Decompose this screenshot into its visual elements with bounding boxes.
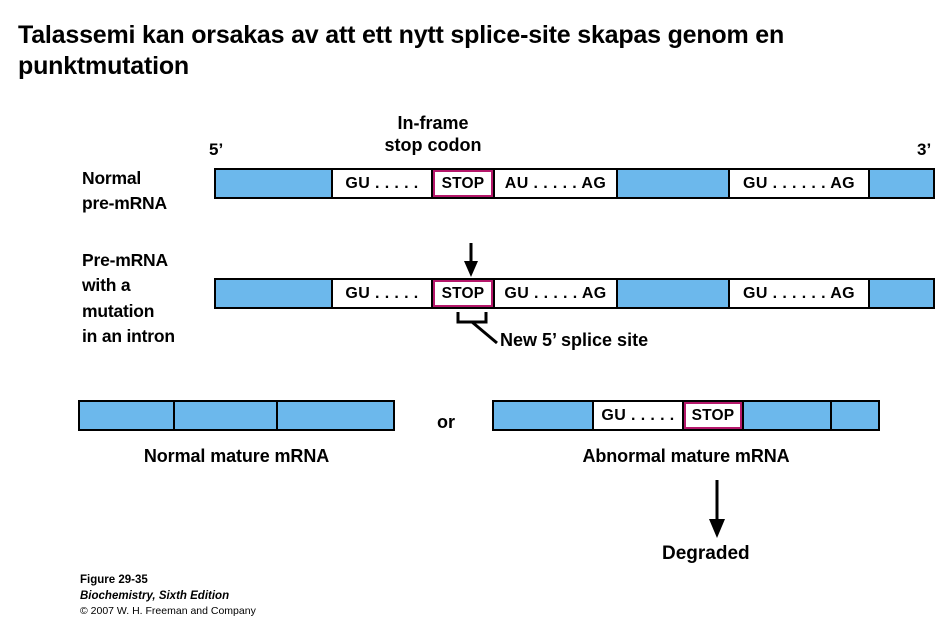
segment-intron: GU . . . . . AG <box>493 280 616 307</box>
figure-credits: Figure 29-35 Biochemistry, Sixth Edition… <box>80 573 256 619</box>
row-label-normal-pre-mrna: Normal pre-mRNA <box>82 166 167 217</box>
segment-exon <box>216 170 331 197</box>
in-frame-stop-codon-line-1: In-frame <box>363 113 503 135</box>
three-prime-label: 3’ <box>917 140 931 160</box>
in-frame-stop-codon-line-2: stop codon <box>363 135 503 157</box>
row-label-line-1: Normal <box>82 166 167 191</box>
new-splice-site-callout: New 5’ splice site <box>500 330 760 352</box>
mrna-bar-mutant-pre-mrna: GU . . . . . STOP GU . . . . . AG GU . .… <box>214 278 935 309</box>
figure-canvas: Talassemi kan orsakas av att ett nytt sp… <box>0 0 948 638</box>
segment-intron: GU . . . . . . AG <box>728 280 868 307</box>
row-label-line-4: in an intron <box>82 324 175 349</box>
mrna-bar-normal-mature-mrna <box>78 400 395 431</box>
row-label-line-2: pre-mRNA <box>82 191 167 216</box>
segment-exon <box>830 402 878 429</box>
segment-exon <box>616 280 728 307</box>
in-frame-stop-codon-callout: In-frame stop codon <box>363 113 503 156</box>
degraded-label: Degraded <box>662 543 750 565</box>
caption-abnormal-mature-mrna: Abnormal mature mRNA <box>492 446 880 467</box>
book-title: Biochemistry, Sixth Edition <box>80 589 256 605</box>
segment-exon <box>216 280 331 307</box>
row-label-line-2: with a <box>82 273 175 298</box>
segment-intron: GU . . . . . <box>331 170 431 197</box>
or-connector-label: or <box>437 412 455 433</box>
segment-stop-codon: STOP <box>431 170 493 197</box>
segment-exon <box>276 402 393 429</box>
row-label-mutant-pre-mrna: Pre-mRNA with a mutation in an intron <box>82 248 175 350</box>
mrna-bar-abnormal-mature-mrna: GU . . . . . STOP <box>492 400 880 431</box>
page-title: Talassemi kan orsakas av att ett nytt sp… <box>18 20 918 83</box>
segment-exon <box>173 402 276 429</box>
stop-codon-label: STOP <box>435 172 491 195</box>
new-splice-site-bracket-icon <box>458 312 497 343</box>
degradation-arrow-icon <box>709 480 725 538</box>
caption-normal-mature-mrna: Normal mature mRNA <box>78 446 395 467</box>
segment-exon <box>80 402 173 429</box>
segment-stop-codon: STOP <box>431 280 493 307</box>
segment-intron: AU . . . . . AG <box>493 170 616 197</box>
segment-exon <box>742 402 830 429</box>
copyright-notice: © 2007 W. H. Freeman and Company <box>80 604 256 619</box>
stop-codon-label: STOP <box>686 404 740 427</box>
segment-stop-codon: STOP <box>682 402 742 429</box>
five-prime-label: 5’ <box>209 140 223 160</box>
segment-intron: GU . . . . . <box>331 280 431 307</box>
segment-exon <box>616 170 728 197</box>
segment-exon <box>868 170 933 197</box>
row-label-line-1: Pre-mRNA <box>82 248 175 273</box>
segment-exon <box>494 402 592 429</box>
stop-codon-label: STOP <box>435 282 491 305</box>
row-label-line-3: mutation <box>82 299 175 324</box>
mutation-arrow-icon <box>464 243 478 277</box>
figure-number: Figure 29-35 <box>80 573 256 589</box>
segment-intron: GU . . . . . . AG <box>728 170 868 197</box>
mrna-bar-normal-pre-mrna: GU . . . . . STOP AU . . . . . AG GU . .… <box>214 168 935 199</box>
segment-intron: GU . . . . . <box>592 402 682 429</box>
segment-exon <box>868 280 933 307</box>
